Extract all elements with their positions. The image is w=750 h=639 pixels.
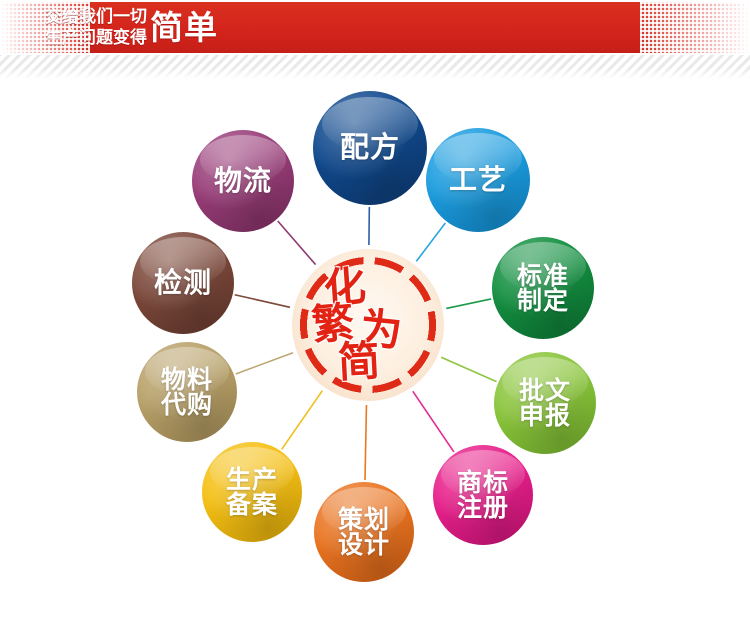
radial-diagram: 化 繁 为 简 配方工艺标准 制定批文 申报商标 注册策划 设计生产 备案物料 … <box>0 79 750 639</box>
node-gongyi[interactable]: 工艺 <box>426 128 530 232</box>
connector-line-jiance <box>235 295 290 308</box>
node-piwen[interactable]: 批文 申报 <box>494 352 596 454</box>
node-label-peifang: 配方 <box>336 133 404 163</box>
header-subtitle-lines: 交给我们一切 生产问题变得 <box>45 7 147 49</box>
page-header: 交给我们一切 生产问题变得 简单 <box>0 0 750 55</box>
node-cehua[interactable]: 策划 设计 <box>314 482 414 582</box>
node-label-wuliu: 物流 <box>210 167 276 196</box>
node-label-jiance: 检测 <box>150 269 216 298</box>
node-biaozhun[interactable]: 标准 制定 <box>492 237 594 339</box>
connector-line-piwen <box>441 357 496 381</box>
connector-line-cehua <box>365 405 366 480</box>
center-seal: 化 繁 为 简 <box>292 249 444 401</box>
node-wuliu[interactable]: 物流 <box>192 130 294 232</box>
header-subtitle-line-2: 生产问题变得 <box>45 28 147 49</box>
node-label-shangbiao: 商标 注册 <box>453 470 513 521</box>
connector-line-biaozhun <box>446 299 491 308</box>
node-label-gongyi: 工艺 <box>445 166 511 195</box>
node-peifang[interactable]: 配方 <box>313 91 427 205</box>
node-label-piwen: 批文 申报 <box>515 378 575 429</box>
center-seal-text: 化 繁 为 简 <box>292 249 444 401</box>
node-label-shengchan: 生产 备案 <box>222 467 282 518</box>
connector-line-wuliao <box>236 353 293 374</box>
node-shangbiao[interactable]: 商标 注册 <box>433 445 533 545</box>
diagonal-stripe-divider <box>0 55 750 79</box>
center-seal-char-4: 简 <box>337 340 381 384</box>
node-label-biaozhun: 标准 制定 <box>513 263 573 314</box>
node-jiance[interactable]: 检测 <box>132 232 234 334</box>
header-headline: 简单 <box>150 7 218 49</box>
node-wuliao[interactable]: 物料 代购 <box>137 342 237 442</box>
header-title: 交给我们一切 生产问题变得 简单 <box>45 4 218 52</box>
node-shengchan[interactable]: 生产 备案 <box>202 442 302 542</box>
header-subtitle-line-1: 交给我们一切 <box>45 7 147 28</box>
node-label-wuliao: 物料 代购 <box>157 367 217 418</box>
node-label-cehua: 策划 设计 <box>334 507 394 558</box>
header-fade-right-pattern <box>640 2 750 53</box>
